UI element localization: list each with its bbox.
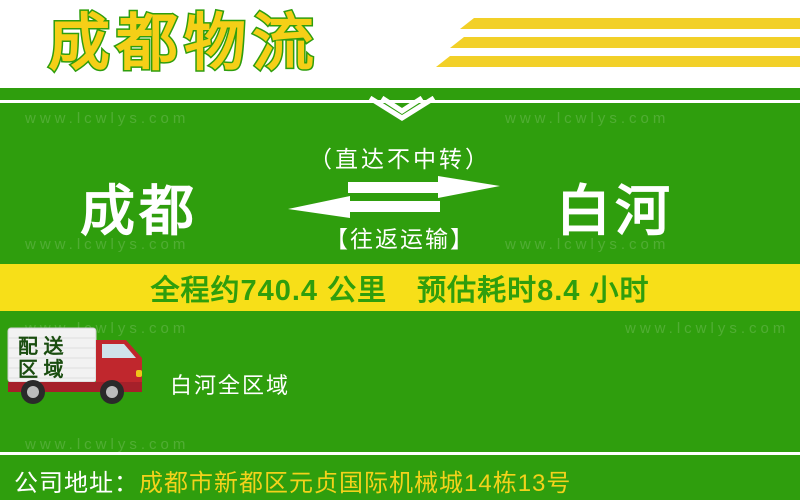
watermark: www.lcwlys.com [25,436,189,453]
brand-title: 成都物流 [48,2,320,86]
stats-bar: 全程约740.4 公里 预估耗时8.4 小时 [0,264,800,311]
svg-text:配 送: 配 送 [18,334,65,358]
delivery-truck-icon: 配 送 区 域 [6,326,166,404]
duration-stat: 预估耗时8.4 小时 [417,267,649,309]
company-address-bar: 公司地址： 成都市新都区元贞国际机械城14栋13号 [0,460,800,500]
direct-shipping-note: （直达不中转） [0,140,800,174]
coverage-area-text: 白河全区域 [170,368,290,400]
stripe-1 [460,18,800,29]
address-value: 成都市新都区元贞国际机械城14栋13号 [139,463,571,498]
poster-header: 成都物流 [0,0,800,88]
watermark: www.lcwlys.com [25,110,189,127]
watermark: www.lcwlys.com [505,110,669,127]
chevron-down-icon [368,96,436,126]
distance-stat: 全程约740.4 公里 [150,267,387,309]
roundtrip-note: 【往返运输】 [0,220,800,254]
stripe-2 [450,37,800,48]
logistics-route-poster: 成都物流 www.lcwlys.comwww.lcwlys.comwww.lcw… [0,0,800,500]
decorative-stripes [400,18,800,70]
address-label: 公司地址： [14,463,139,498]
poster-body: www.lcwlys.comwww.lcwlys.comwww.lcwlys.c… [0,88,800,500]
two-way-arrow-icon [288,176,500,218]
watermark: www.lcwlys.com [625,320,789,337]
divider-bottom [0,452,800,455]
svg-text:区 域: 区 域 [18,357,64,381]
stripe-3 [436,56,800,67]
